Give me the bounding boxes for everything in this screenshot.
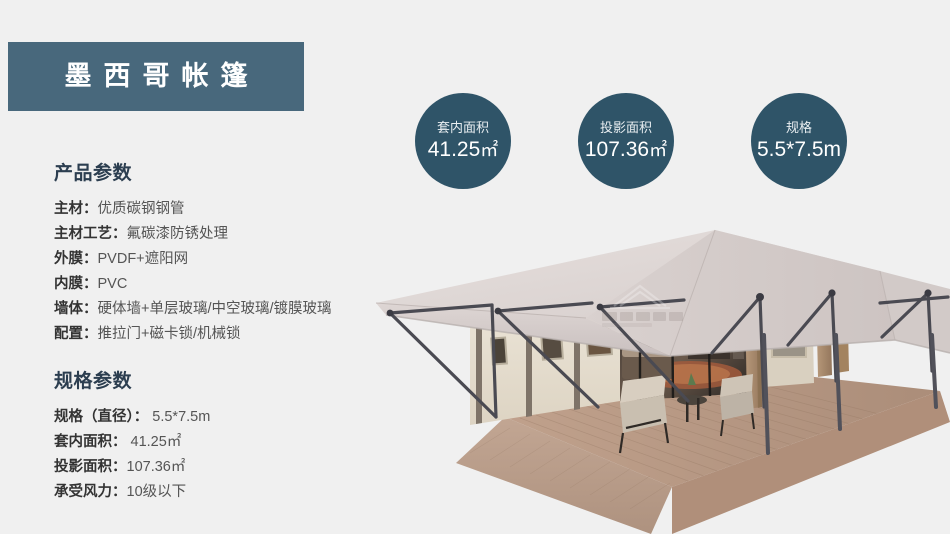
param-label: 套内面积： [54,434,127,450]
param-value: 优质碳钢钢管 [98,201,185,217]
param-label: 投影面积： [54,459,127,475]
param-value: PVDF+遮阳网 [98,251,189,267]
stat-number: 41.25 [428,138,481,161]
title-banner: 墨西哥帐篷 [8,42,304,111]
param-value: PVC [98,276,128,292]
param-label: 主材工艺： [54,226,127,242]
param-value: 41.25㎡ [127,434,182,450]
param-label: 内膜： [54,276,98,292]
param-label: 主材： [54,201,98,217]
param-value: 107.36㎡ [127,459,186,475]
stat-number: 5.5*7.5m [757,138,841,161]
param-label: 外膜： [54,251,98,267]
stat-label: 套内面积 [437,121,489,135]
stat-value: 5.5*7.5m [757,139,841,161]
tent-render-illustration [320,185,950,534]
stat-unit: ㎡ [480,140,498,160]
stat-value: 107.36㎡ [585,139,667,161]
page-root: 墨西哥帐篷 产品参数 主材：优质碳钢钢管 主材工艺：氟碳漆防锈处理 外膜：PVD… [0,0,950,534]
stat-label: 规格 [786,121,812,135]
stat-unit: ㎡ [649,140,667,160]
stat-badge-projected-area: 投影面积 107.36㎡ [578,93,674,189]
page-title: 墨西哥帐篷 [53,63,260,90]
param-label: 规格（直径）： [54,409,148,425]
param-value: 硬体墙+单层玻璃/中空玻璃/镀膜玻璃 [98,301,332,317]
param-label: 墙体： [54,301,98,317]
param-value: 推拉门+磁卡锁/机械锁 [98,326,241,342]
stat-badge-interior-area: 套内面积 41.25㎡ [415,93,511,189]
param-label: 配置： [54,326,98,342]
param-value: 5.5*7.5m [148,409,210,425]
param-value: 10级以下 [127,484,187,500]
stat-value: 41.25㎡ [428,139,499,161]
stat-badge-dimensions: 规格 5.5*7.5m [751,93,847,189]
param-label: 承受风力： [54,484,127,500]
stat-label: 投影面积 [600,121,652,135]
section-heading-product-parameters: 产品参数 [54,163,384,186]
stat-number: 107.36 [585,138,649,161]
param-value: 氟碳漆防锈处理 [127,226,229,242]
